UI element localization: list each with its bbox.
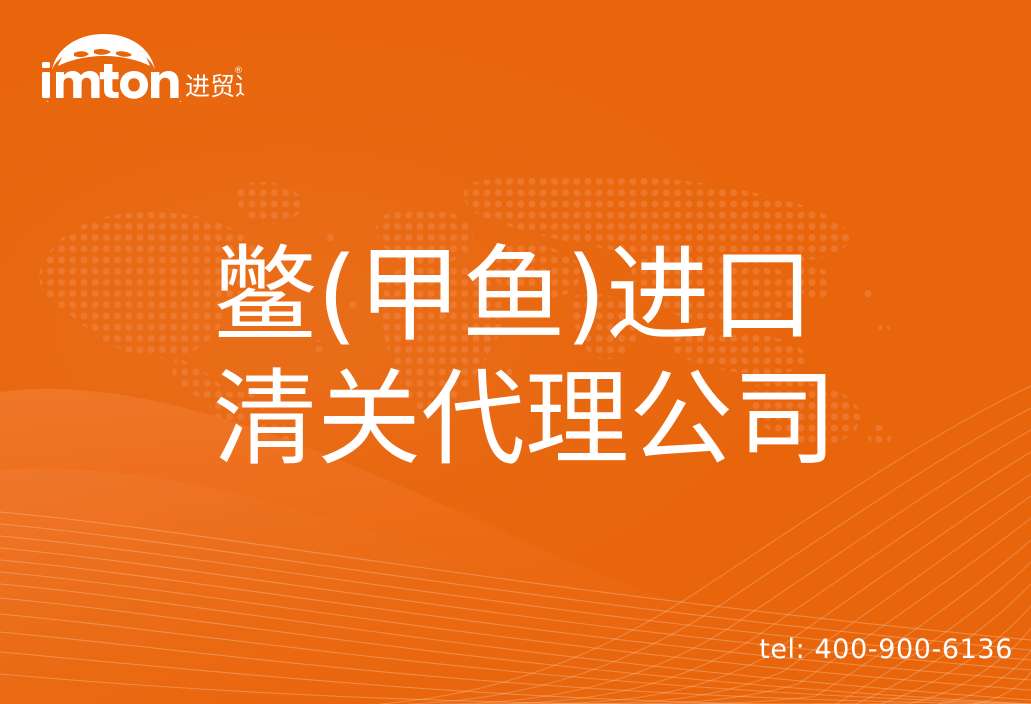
promo-banner: 进贸通 ® 鳖(甲鱼)进口 清关代理公司 tel: 400-900-6136 [0, 0, 1031, 704]
headline-line-2: 清关代理公司 [213, 357, 913, 481]
registered-trademark-icon: ® [234, 66, 243, 76]
swoosh-bird-icon [46, 100, 182, 102]
logo-chinese-name: 进贸通 [185, 72, 244, 101]
page-title: 鳖(甲鱼)进口 清关代理公司 [213, 233, 913, 481]
contact-phone[interactable]: tel: 400-900-6136 [759, 634, 1013, 666]
brand-logo[interactable]: 进贸通 ® [34, 26, 244, 102]
imton-wordmark [42, 62, 179, 99]
headline-line-1: 鳖(甲鱼)进口 [213, 233, 913, 357]
globe-arc-icon [52, 34, 155, 70]
